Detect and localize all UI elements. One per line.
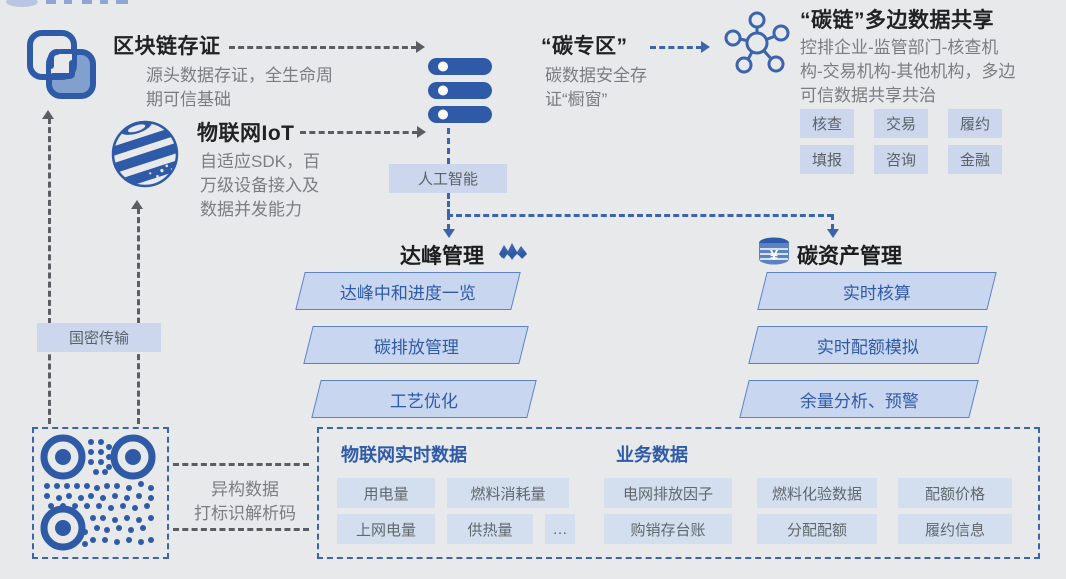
blockchain-to-server-arrow <box>416 41 425 53</box>
carbon-asset-item-label: 实时核算 <box>843 279 911 304</box>
data-group-title: 物联网实时数据 <box>341 441 467 467</box>
data-tag[interactable]: 用电量 <box>337 478 435 508</box>
peak-branch-down-line <box>447 214 450 230</box>
cropped-top-element <box>0 0 130 8</box>
carbon-chain-tag[interactable]: 核查 <box>800 109 854 138</box>
server-stack-icon <box>428 56 492 128</box>
data-tag[interactable]: 上网电量 <box>337 514 435 544</box>
secure-transfer-line-right <box>137 208 140 424</box>
server-to-ai-line <box>447 128 450 164</box>
database-yuan-icon: ¥ <box>757 237 791 267</box>
blockchain-link-icon <box>27 30 99 102</box>
qr-code-icon <box>41 436 160 550</box>
iot-globe-icon <box>106 115 184 193</box>
heterogeneous-line-bottom <box>173 528 309 531</box>
carbon-chain-tag[interactable]: 填报 <box>800 145 854 174</box>
carbon-chain-tag[interactable]: 咨询 <box>874 145 928 174</box>
carbonzone-to-hub-line <box>650 46 702 49</box>
carbon-chain-desc: 控排企业-监管部门-核查机构-交易机构-其他机构，多边可信数据共享共治 <box>800 36 1018 108</box>
heterogeneous-line-top <box>173 463 309 466</box>
iot-to-server-arrow <box>417 126 426 138</box>
data-tag[interactable]: 履约信息 <box>898 514 1012 544</box>
carbon-asset-item-label: 余量分析、预警 <box>800 387 919 412</box>
ai-branch-horizontal-line <box>447 214 833 217</box>
diagram-canvas: 区块链存证 源头数据存证，全生命周期可信基础 <box>0 0 1066 579</box>
data-tag-ellipsis[interactable]: … <box>545 514 575 544</box>
peak-item-label: 碳排放管理 <box>374 333 459 358</box>
secure-transfer-arrow-left <box>42 110 54 119</box>
heterogeneous-label-line1: 异构数据 <box>190 478 300 502</box>
secure-transfer-arrow-right <box>131 200 143 209</box>
data-tag[interactable]: 购销存台账 <box>604 514 732 544</box>
peak-branch-arrow <box>443 229 455 238</box>
carbon-chain-tag[interactable]: 金融 <box>948 145 1002 174</box>
secure-transfer-line-left <box>48 118 51 424</box>
blockchain-title: 区块链存证 <box>113 30 221 60</box>
iot-desc: 自适应SDK，百万级设备接入及数据并发能力 <box>200 150 330 222</box>
carbon-chain-title: “碳链”多边数据共享 <box>800 4 994 34</box>
peak-item[interactable]: 碳排放管理 <box>303 326 528 364</box>
peak-item-label: 达峰中和进度一览 <box>340 279 476 304</box>
peak-management-title: 达峰管理 <box>400 240 484 270</box>
heterogeneous-label-line2: 打标识解析码 <box>182 502 308 526</box>
carbon-chain-tag[interactable]: 履约 <box>948 109 1002 138</box>
carbon-asset-title: 碳资产管理 <box>797 240 902 270</box>
peak-item[interactable]: 达峰中和进度一览 <box>295 272 520 310</box>
iot-title: 物联网IoT <box>197 117 295 147</box>
iot-to-server-line <box>300 131 418 134</box>
ai-label: 人工智能 <box>389 164 507 193</box>
network-hub-icon <box>722 8 792 78</box>
carbon-zone-title: “碳专区” <box>541 30 628 60</box>
carbonzone-to-hub-arrow <box>701 41 710 53</box>
carbon-asset-item[interactable]: 实时核算 <box>757 272 996 310</box>
data-tag[interactable]: 电网排放因子 <box>604 478 732 508</box>
data-tag[interactable]: 供热量 <box>447 514 533 544</box>
data-group-title: 业务数据 <box>616 441 688 467</box>
carbon-asset-item[interactable]: 余量分析、预警 <box>739 380 978 418</box>
data-tag[interactable]: 配额价格 <box>898 478 1012 508</box>
carbon-asset-item-label: 实时配额模拟 <box>817 333 919 358</box>
peak-item-label: 工艺优化 <box>390 387 458 412</box>
peak-mountain-icon <box>498 240 528 264</box>
data-tag[interactable]: 燃料化验数据 <box>757 478 877 508</box>
secure-transfer-label: 国密传输 <box>37 323 161 352</box>
carbon-chain-tag[interactable]: 交易 <box>874 109 928 138</box>
blockchain-to-server-line <box>229 46 417 49</box>
asset-branch-arrow <box>827 229 839 238</box>
data-tag[interactable]: 分配配额 <box>757 514 877 544</box>
data-tag[interactable]: 燃料消耗量 <box>447 478 569 508</box>
svg-text:¥: ¥ <box>770 247 779 264</box>
ai-down-line <box>447 193 450 215</box>
peak-item[interactable]: 工艺优化 <box>311 380 536 418</box>
blockchain-desc: 源头数据存证，全生命周期可信基础 <box>146 64 334 112</box>
asset-branch-down-line <box>831 214 834 230</box>
carbon-zone-desc: 碳数据安全存证“橱窗” <box>545 64 685 112</box>
carbon-asset-item[interactable]: 实时配额模拟 <box>748 326 987 364</box>
